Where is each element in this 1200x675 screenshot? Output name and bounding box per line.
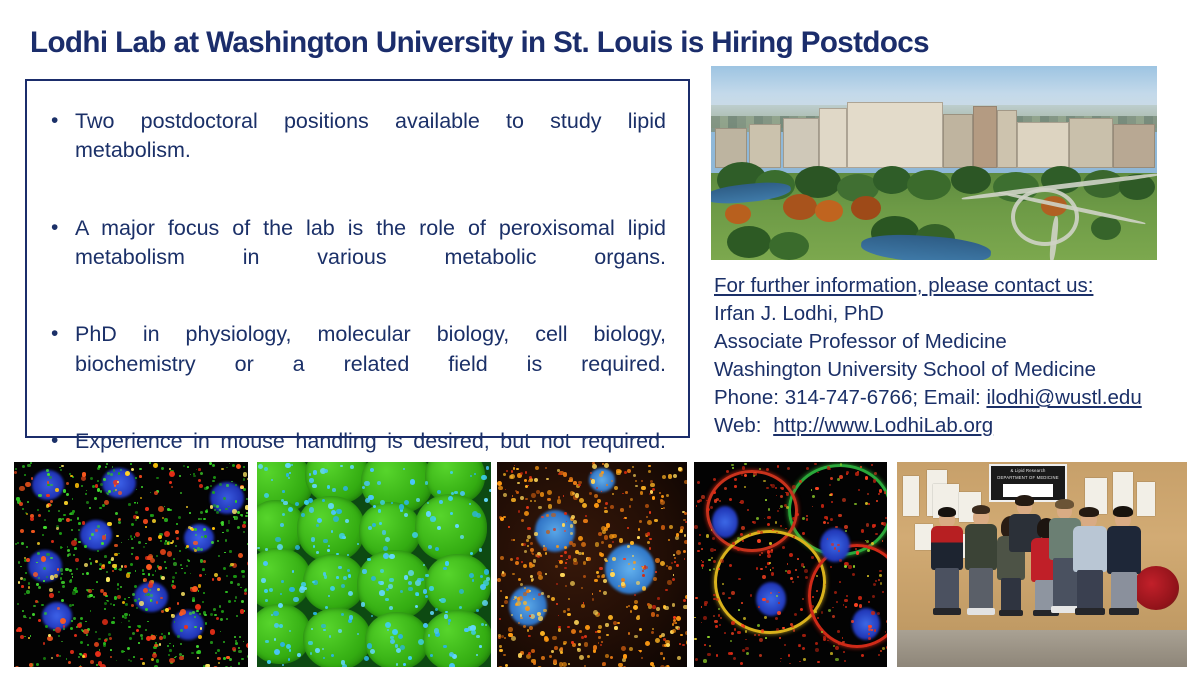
tree [769, 232, 809, 260]
poster [903, 476, 919, 516]
building [1069, 118, 1113, 168]
bullet-marker-icon: • [45, 320, 75, 349]
tree [873, 166, 911, 194]
tree [907, 170, 951, 200]
contact-heading: For further information, please contact … [714, 272, 1184, 300]
lab-group-photo: & Lipid Research DEPARTMENT OF MEDICINE [897, 462, 1187, 667]
email-link[interactable]: ilodhi@wustl.edu [986, 386, 1141, 409]
micrograph-membranes [694, 462, 887, 667]
phone-value: 314-747-6766; [785, 386, 918, 409]
building [1113, 124, 1155, 168]
web-label: Web: [714, 414, 761, 437]
building [997, 110, 1017, 168]
research-image-gallery: & Lipid Research DEPARTMENT OF MEDICINE [0, 462, 1200, 667]
cyan-speckles [257, 462, 491, 667]
membrane-puncta [694, 462, 887, 667]
list-item: • PhD in physiology, molecular biology, … [45, 320, 666, 408]
tree-autumn [783, 194, 817, 220]
campus-aerial-photo [711, 66, 1157, 260]
phone-label: Phone: [714, 386, 779, 409]
poster [1137, 482, 1155, 516]
micrograph-puncta-green-red [14, 462, 248, 667]
tree [1091, 216, 1121, 240]
building [847, 102, 943, 168]
floor [897, 630, 1187, 667]
list-item: • Two postdoctoral positions available t… [45, 107, 666, 195]
bullet-text: A major focus of the lab is the role of … [75, 214, 666, 302]
email-label: Email: [924, 386, 981, 409]
website-link[interactable]: http://www.LodhiLab.org [773, 414, 993, 437]
list-item: • A major focus of the lab is the role o… [45, 214, 666, 302]
building [819, 108, 847, 168]
road-loop [1011, 188, 1079, 246]
contact-web-row: Web: http://www.LodhiLab.org [714, 412, 1184, 440]
tree-autumn [725, 204, 751, 224]
micrograph-green-adipocytes [257, 462, 491, 667]
sign-line-2: DEPARTMENT OF MEDICINE [991, 475, 1065, 481]
building [1017, 122, 1069, 168]
building [749, 124, 781, 168]
building [943, 114, 973, 168]
micrograph-lipid-droplets [497, 462, 687, 667]
tree [951, 166, 991, 194]
bullet-list: • Two postdoctoral positions available t… [45, 107, 666, 486]
lipid-droplet-puncta [497, 462, 687, 667]
fluorescent-puncta [14, 462, 248, 667]
bullet-marker-icon: • [45, 107, 75, 136]
page-title: Lodhi Lab at Washington University in St… [30, 26, 1163, 60]
bullet-text: PhD in physiology, molecular biology, ce… [75, 320, 666, 408]
tree-autumn [815, 200, 843, 222]
job-description-box: • Two postdoctoral positions available t… [25, 79, 690, 438]
sign-line-1: & Lipid Research [991, 468, 1065, 474]
tree [727, 226, 771, 258]
contact-phone-email-row: Phone: 314-747-6766; Email: ilodhi@wustl… [714, 384, 1184, 412]
building [783, 118, 819, 168]
contact-rank: Associate Professor of Medicine [714, 328, 1184, 356]
contact-name: Irfan J. Lodhi, PhD [714, 300, 1184, 328]
contact-block: For further information, please contact … [714, 272, 1184, 440]
bullet-marker-icon: • [45, 214, 75, 243]
bullet-text: Two postdoctoral positions available to … [75, 107, 666, 195]
contact-institution: Washington University School of Medicine [714, 356, 1184, 384]
building [973, 106, 997, 168]
bullet-marker-icon: • [45, 427, 75, 456]
tree-autumn [851, 196, 881, 220]
